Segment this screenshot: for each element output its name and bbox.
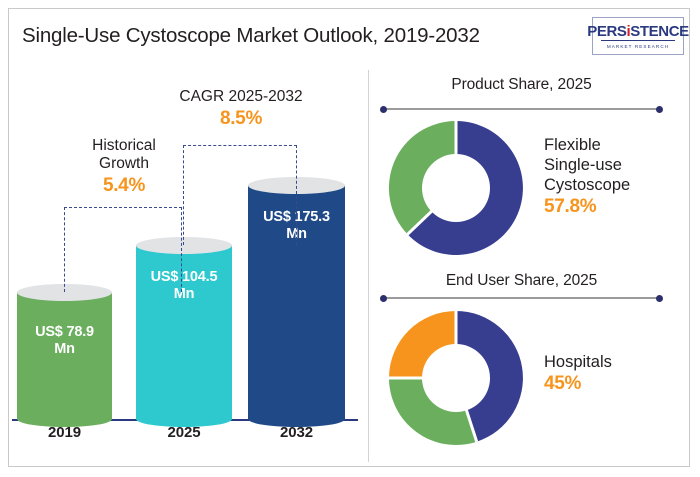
historical-growth-bracket (64, 207, 182, 292)
product-share-callout: Flexible Single-use Cystoscope 57.8% (544, 135, 684, 218)
rule-dot-left (380, 106, 387, 113)
end-user-share-callout-name: Hospitals (544, 352, 684, 372)
persistence-market-research-logo: PERSiSTENCE MARKET RESEARCH (592, 17, 684, 55)
end-user-share-donut-svg (386, 308, 526, 448)
product-share-title: Product Share, 2025 (383, 76, 660, 94)
x-label-2025: 2025 (136, 424, 232, 441)
bar-2019: US$ 78.9 Mn (17, 284, 112, 419)
logo-word-after: STENCE (630, 23, 688, 40)
rule-dot-right (656, 295, 663, 302)
logo-word-before: PERS (587, 23, 626, 40)
cagr-value: 8.5% (170, 108, 312, 130)
x-label-2019: 2019 (17, 424, 112, 441)
product-share-donut-svg (386, 118, 526, 258)
bar-2019-value: US$ 78.9 Mn (17, 324, 112, 358)
rule-dot-left (380, 295, 387, 302)
page-title: Single-Use Cystoscope Market Outlook, 20… (22, 24, 582, 48)
logo-subtitle: MARKET RESEARCH (607, 44, 669, 49)
product-share-callout-value: 57.8% (544, 196, 684, 218)
historical-growth-annotation: Historical Growth 5.4% (63, 137, 185, 197)
logo-wordmark: PERSiSTENCE (587, 24, 688, 39)
rule-dot-right (656, 106, 663, 113)
cagr-bracket (183, 145, 297, 245)
logo-divider (601, 40, 675, 41)
product-share-callout-name: Flexible Single-use Cystoscope (544, 135, 684, 195)
end-user-share-donut (386, 308, 526, 448)
end-user-share-callout: Hospitals 45% (544, 352, 684, 395)
end-user-share-rule (383, 297, 660, 299)
product-share-donut (386, 118, 526, 258)
end-user-share-callout-value: 45% (544, 373, 684, 395)
cagr-annotation: CAGR 2025-2032 8.5% (170, 88, 312, 130)
historical-growth-value: 5.4% (63, 175, 185, 197)
cagr-label: CAGR 2025-2032 (170, 88, 312, 106)
infographic-canvas: Single-Use Cystoscope Market Outlook, 20… (0, 0, 700, 477)
historical-growth-label: Historical Growth (63, 137, 185, 173)
x-label-2032: 2032 (248, 424, 345, 441)
end-user-share-title: End User Share, 2025 (383, 272, 660, 290)
product-share-rule (383, 108, 660, 110)
section-divider (368, 70, 369, 462)
